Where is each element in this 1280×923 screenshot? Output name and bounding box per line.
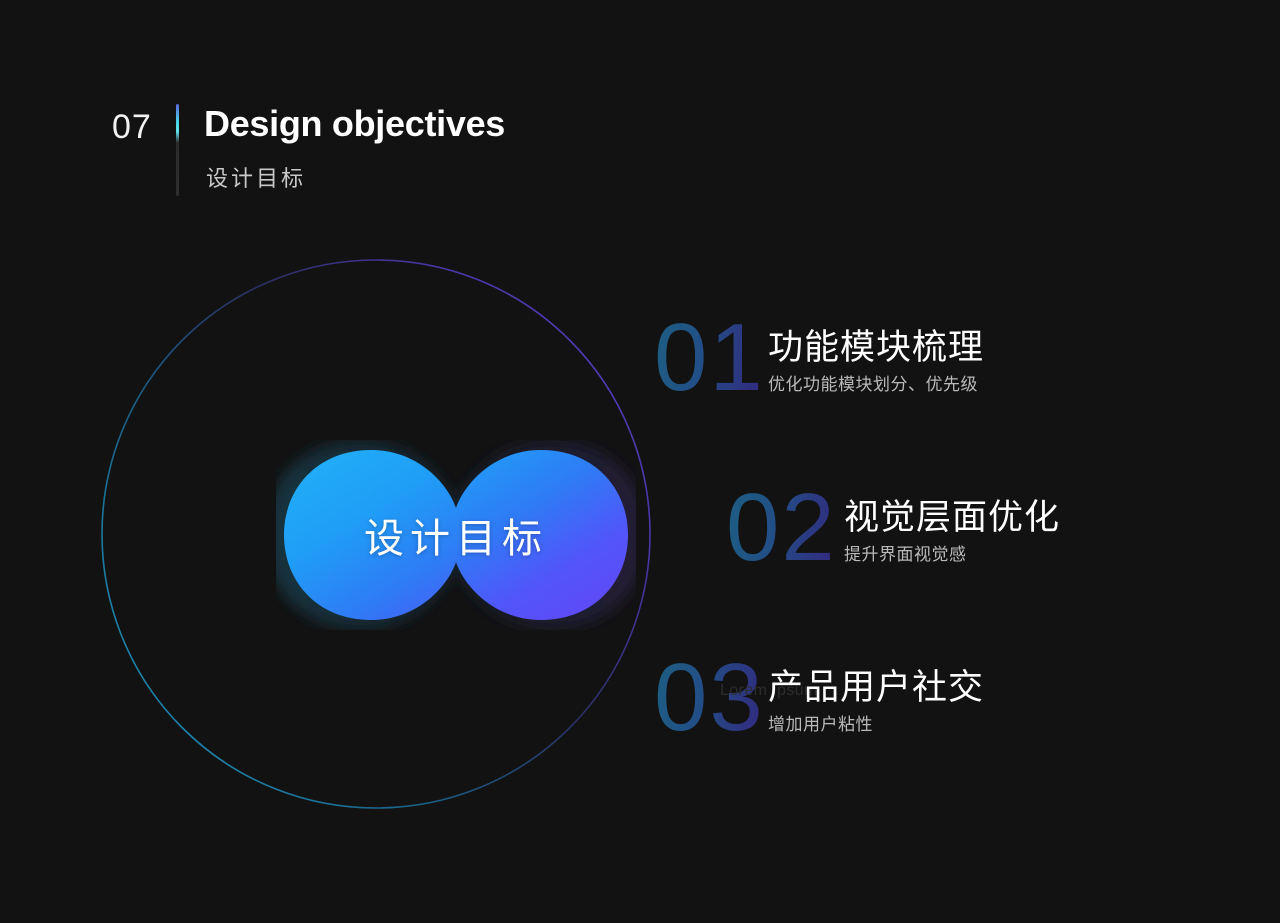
page-title: Design objectives	[204, 104, 505, 144]
item-title: 视觉层面优化	[844, 498, 1060, 538]
list-item[interactable]: 02 视觉层面优化 提升界面视觉感	[648, 480, 1208, 650]
list-item[interactable]: 03 Lorem Ipsum 产品用户社交 增加用户粘性	[648, 650, 1208, 820]
objectives-list: 01 功能模块梳理 优化功能模块划分、优先级 02 视觉层面优化 提升界面视觉感…	[648, 310, 1208, 820]
page-subtitle: 设计目标	[206, 166, 306, 192]
item-number: 01	[654, 310, 765, 406]
item-text-block: 功能模块梳理 优化功能模块划分、优先级	[768, 328, 984, 396]
item-title: 功能模块梳理	[768, 328, 984, 368]
visual-diagram: 设计目标	[100, 258, 652, 810]
item-subtitle: 优化功能模块划分、优先级	[768, 374, 984, 396]
header-divider	[176, 104, 179, 196]
metaball-shape	[276, 440, 636, 630]
section-number: 07	[112, 110, 152, 144]
slide-root: 07 Design objectives 设计目标	[0, 0, 1280, 923]
item-number: 02	[726, 480, 837, 576]
slide-header: 07 Design objectives 设计目标	[112, 104, 712, 214]
item-subtitle: 提升界面视觉感	[844, 544, 1060, 566]
item-subtitle: 增加用户粘性	[768, 714, 984, 736]
item-text-block: 产品用户社交 增加用户粘性	[768, 668, 984, 736]
item-title: 产品用户社交	[768, 668, 984, 708]
list-item[interactable]: 01 功能模块梳理 优化功能模块划分、优先级	[648, 310, 1208, 480]
item-text-block: 视觉层面优化 提升界面视觉感	[844, 498, 1060, 566]
